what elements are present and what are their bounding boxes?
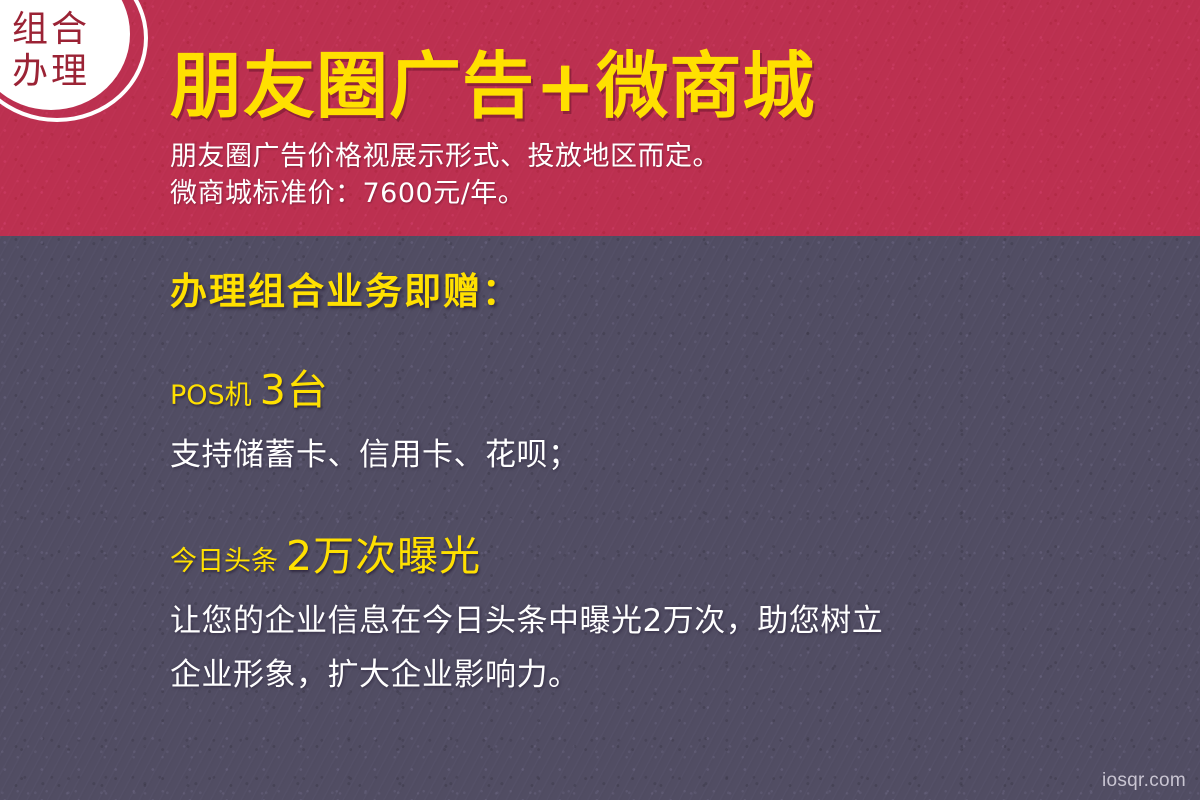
promo-poster: 组合 办理 朋友圈广告+微商城 朋友圈广告价格视展示形式、投放地区而定。 微商城… — [0, 0, 1200, 800]
offer-title-pos: POS机3台 — [170, 356, 1160, 416]
header-text-group: 朋友圈广告+微商城 朋友圈广告价格视展示形式、投放地区而定。 微商城标准价：76… — [170, 46, 815, 212]
header-subtitle-2: 微商城标准价：7600元/年。 — [170, 175, 815, 212]
badge-line-2: 办理 — [12, 51, 90, 93]
badge-text-group: 组合 办理 — [0, 0, 130, 110]
offer-amount-pos: 3台 — [260, 366, 329, 414]
badge-line-1: 组合 — [12, 9, 90, 51]
offer-description-toutiao-line-1: 让您的企业信息在今日头条中曝光2万次，助您树立 — [170, 603, 883, 639]
page-title: 朋友圈广告+微商城 — [170, 46, 815, 126]
offer-brand-pos: POS机 — [170, 380, 252, 411]
watermark: iosqr.com — [1102, 770, 1186, 792]
offer-brand-toutiao: 今日头条 — [170, 546, 278, 577]
corner-badge: 组合 办理 — [0, 0, 156, 130]
gift-heading: 办理组合业务即赠： — [170, 268, 1160, 316]
offer-description-toutiao-line-2: 企业形象，扩大企业影响力。 — [170, 648, 1160, 702]
offer-item-toutiao: 今日头条2万次曝光 让您的企业信息在今日头条中曝光2万次，助您树立 企业形象，扩… — [170, 522, 1160, 702]
offer-description-pos-line-1: 支持储蓄卡、信用卡、花呗； — [170, 437, 580, 473]
header-subtitle-1: 朋友圈广告价格视展示形式、投放地区而定。 — [170, 138, 815, 175]
offer-amount-toutiao: 2万次曝光 — [286, 532, 481, 580]
offer-item-pos: POS机3台 支持储蓄卡、信用卡、花呗； — [170, 356, 1160, 482]
offer-description-pos: 支持储蓄卡、信用卡、花呗； — [170, 428, 1160, 482]
offer-title-toutiao: 今日头条2万次曝光 — [170, 522, 1160, 582]
offers-section: 办理组合业务即赠： POS机3台 支持储蓄卡、信用卡、花呗； 今日头条2万次曝光… — [170, 268, 1160, 702]
offer-description-toutiao: 让您的企业信息在今日头条中曝光2万次，助您树立 企业形象，扩大企业影响力。 — [170, 594, 1160, 702]
